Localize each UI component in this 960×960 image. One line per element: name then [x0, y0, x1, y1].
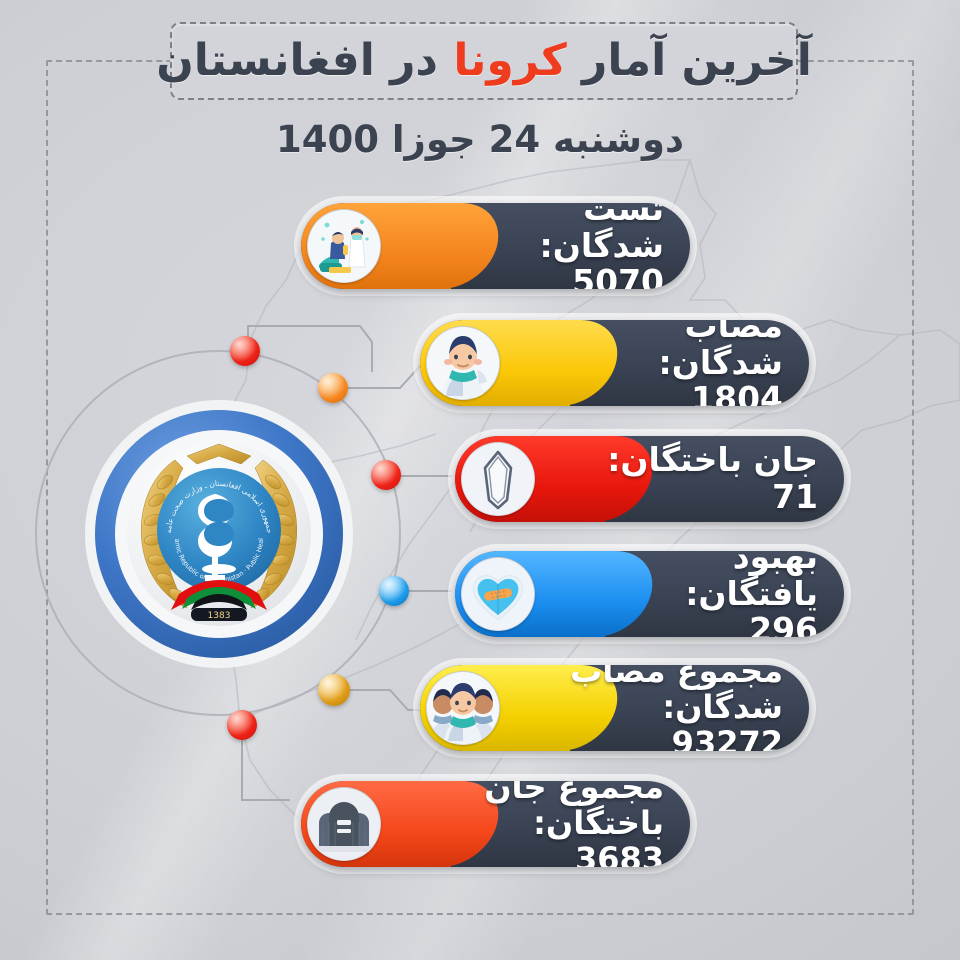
sick-group-icon — [426, 671, 500, 745]
stat-pill-infected[interactable]: مصاب شدگان: 1804 — [420, 320, 809, 406]
stat-label-total-infected: مجموع مصاب شدگان: — [570, 665, 783, 726]
stat-pill-tested[interactable]: تست شدگان: 5070 — [301, 203, 690, 289]
dot-recovered — [379, 576, 409, 606]
infographic-canvas: آخرین آمار کرونا در افغانستان دوشنبه 24 … — [0, 0, 960, 960]
coffin-icon — [461, 442, 535, 516]
stat-pill-deaths[interactable]: جان باختگان: 71 — [455, 436, 844, 522]
dot-total-infected — [318, 674, 350, 706]
page-title: آخرین آمار کرونا در افغانستان — [156, 39, 812, 83]
healing-heart-icon — [461, 557, 535, 631]
stat-text-total-infected: مجموع مصاب شدگان: 93272 — [570, 665, 783, 751]
emblem-year: 1383 — [208, 611, 231, 621]
stat-text-infected: مصاب شدگان: 1804 — [570, 320, 783, 406]
stat-value-total-deaths: 3683 — [575, 840, 664, 867]
title-accent-corona: کرونا — [453, 35, 566, 86]
stat-pill-recovered[interactable]: بهبود یافتگان: 296 — [455, 551, 844, 637]
stat-text-deaths: جان باختگان: 71 — [605, 442, 818, 516]
moph-emblem: جمهوری اسلامی افغانستان ـ وزارت صحت عامه… — [83, 398, 355, 670]
dot-total-deaths — [227, 710, 257, 740]
stat-text-tested: تست شدگان: 5070 — [451, 203, 664, 289]
stat-label-total-deaths: مجموع جان باختگان: — [484, 781, 664, 842]
dot-deaths — [371, 460, 401, 490]
title-prefix: آخرین آمار — [567, 35, 812, 86]
title-suffix: در افغانستان — [156, 35, 453, 86]
stat-pill-total-deaths[interactable]: مجموع جان باختگان: 3683 — [301, 781, 690, 867]
stat-pill-total-infected[interactable]: مجموع مصاب شدگان: 93272 — [420, 665, 809, 751]
report-date: دوشنبه 24 جوزا 1400 — [0, 118, 960, 161]
sick-person-icon — [426, 326, 500, 400]
grave-icon — [307, 787, 381, 861]
stat-value-total-infected: 93272 — [672, 724, 783, 751]
title-plate: آخرین آمار کرونا در افغانستان — [170, 22, 798, 100]
stat-text-recovered: بهبود یافتگان: 296 — [605, 551, 818, 637]
dot-tested — [230, 336, 260, 366]
stat-text-total-deaths: مجموع جان باختگان: 3683 — [451, 781, 664, 867]
covid-test-icon — [307, 209, 381, 283]
